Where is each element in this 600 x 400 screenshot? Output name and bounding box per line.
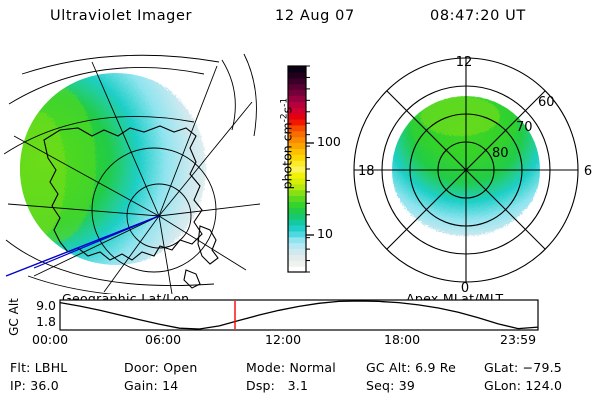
- status-glat-value: −79.5: [523, 360, 562, 375]
- apex-spokes: [354, 58, 578, 282]
- colorbar-major-ticks: [306, 143, 314, 235]
- status-door-label: Door:: [124, 360, 159, 375]
- status-glat: GLat: −79.5: [484, 360, 562, 375]
- geographic-plot-svg: [4, 44, 262, 294]
- observation-time: 08:47:20 UT: [430, 8, 526, 24]
- status-glon-value: 124.0: [525, 378, 562, 393]
- apex-mlt-label-6: 6: [584, 164, 592, 179]
- status-ip-label: IP:: [10, 378, 26, 393]
- status-mode-label: Mode:: [246, 360, 285, 375]
- status-gain-value: 14: [162, 378, 178, 393]
- colorbar-label-mid: s: [280, 107, 295, 114]
- status-flt-label: Flt:: [10, 360, 31, 375]
- status-panel: Flt: LBHL Door: Open Mode: Normal GC Alt…: [0, 360, 600, 400]
- header-bar: Ultraviolet Imager 12 Aug 07 08:47:20 UT: [0, 6, 600, 32]
- status-mode-value: Normal: [289, 360, 335, 375]
- status-gcalt-label: GC Alt:: [366, 360, 411, 375]
- status-gcalt-value: 6.9 Re: [415, 360, 456, 375]
- status-seq-label: Seq:: [366, 378, 395, 393]
- observation-date: 12 Aug 07: [275, 8, 355, 24]
- colorbar-minor-ticks: [306, 66, 310, 272]
- status-flt-value: LBHL: [35, 360, 68, 375]
- colorbar-tick-label-100: 100: [317, 134, 341, 149]
- status-mode: Mode: Normal: [246, 360, 336, 375]
- geographic-plot[interactable]: [4, 44, 262, 294]
- colorbar-label-exp1: -2: [279, 113, 289, 122]
- strip-chart-xtick-4: 23:59: [500, 332, 536, 347]
- status-ip: IP: 36.0: [10, 378, 59, 393]
- altitude-strip-chart[interactable]: GC Alt 9.0 1.8 00:00 06:00 12:00 18:00 2…: [0, 296, 600, 356]
- apex-mlt-label-18: 18: [358, 164, 375, 179]
- strip-chart-xtick-2: 12:00: [265, 332, 301, 347]
- colorbar-tick-label-10: 10: [317, 226, 333, 241]
- status-door-value: Open: [163, 360, 197, 375]
- status-ip-value: 36.0: [30, 378, 59, 393]
- status-dsp-label: Dsp:: [246, 378, 275, 393]
- status-gain: Gain: 14: [124, 378, 178, 393]
- status-flt: Flt: LBHL: [10, 360, 67, 375]
- status-row-2: IP: 36.0 Gain: 14 Dsp: 3.1 Seq: 39 GLon:…: [0, 378, 600, 396]
- strip-chart-xtick-3: 18:00: [384, 332, 420, 347]
- apex-mlt-label-12: 12: [456, 55, 473, 70]
- colorbar-axis-label: photon cm-2s-1: [279, 69, 294, 219]
- colorbar[interactable]: photon cm-2s-1 100 10: [264, 44, 350, 294]
- status-dsp: Dsp: 3.1: [246, 378, 308, 393]
- status-door: Door: Open: [124, 360, 197, 375]
- apex-mlat-mlt-plot[interactable]: 12 6 0 18 60 70 80: [352, 44, 596, 294]
- colorbar-svg: [264, 44, 350, 294]
- status-glat-label: GLat:: [484, 360, 518, 375]
- apex-mlat-label-60: 60: [538, 95, 555, 110]
- status-seq: Seq: 39: [366, 378, 415, 393]
- status-seq-value: 39: [399, 378, 415, 393]
- colorbar-label-exp2: -1: [279, 98, 289, 107]
- strip-chart-xtick-0: 00:00: [32, 332, 68, 347]
- status-glon-label: GLon:: [484, 378, 521, 393]
- strip-chart-svg: [0, 296, 600, 332]
- apex-mlat-label-70: 70: [516, 120, 533, 135]
- status-gain-label: Gain:: [124, 378, 158, 393]
- status-row-1: Flt: LBHL Door: Open Mode: Normal GC Alt…: [0, 360, 600, 378]
- status-dsp-value: 3.1: [288, 378, 308, 393]
- instrument-title: Ultraviolet Imager: [50, 8, 192, 24]
- strip-chart-xtick-1: 06:00: [145, 332, 181, 347]
- colorbar-label-main: photon cm: [280, 122, 295, 189]
- apex-plot-svg: 12 6 0 18 60 70 80: [352, 44, 596, 294]
- status-glon: GLon: 124.0: [484, 378, 562, 393]
- status-gcalt: GC Alt: 6.9 Re: [366, 360, 456, 375]
- apex-mlat-label-80: 80: [492, 146, 509, 161]
